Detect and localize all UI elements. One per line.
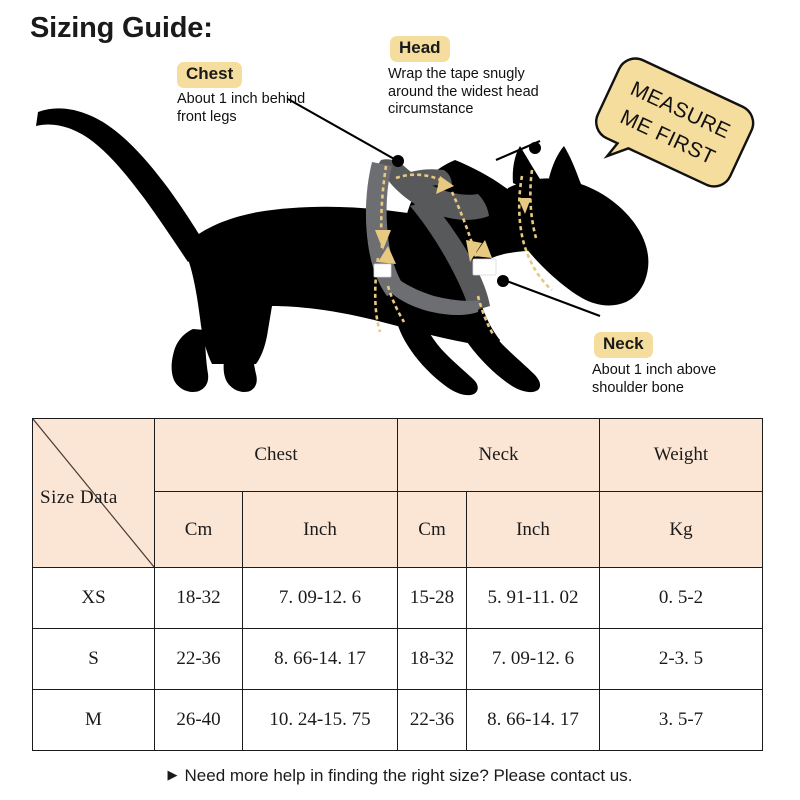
table-body: XS 18-32 7. 09-12. 6 15-28 5. 91-11. 02 …: [33, 568, 763, 751]
buckle-belly: [374, 264, 391, 277]
cell-chest-cm: 26-40: [155, 690, 243, 751]
table-row: M 26-40 10. 24-15. 75 22-36 8. 66-14. 17…: [33, 690, 763, 751]
callout-description-head: Wrap the tape snugly around the widest h…: [388, 66, 578, 119]
cell-neck-inch: 8. 66-14. 17: [467, 690, 600, 751]
table-row: XS 18-32 7. 09-12. 6 15-28 5. 91-11. 02 …: [33, 568, 763, 629]
size-data-table: Size Data Chest Neck Weight Cm Inch Cm I…: [32, 418, 763, 751]
cell-chest-cm: 18-32: [155, 568, 243, 629]
footer-help-text: Need more help in finding the right size…: [185, 766, 633, 785]
table-group-header-neck: Neck: [398, 419, 600, 492]
triangle-bullet-icon: ▶: [168, 767, 178, 783]
table-corner-label: Size Data: [40, 487, 118, 509]
cell-chest-inch: 7. 09-12. 6: [243, 568, 398, 629]
table-corner-cell: Size Data: [33, 419, 155, 568]
callout-description-chest: About 1 inch behind front legs: [177, 91, 367, 126]
table-unit-header-chest-inch: Inch: [243, 492, 398, 568]
pointer-dot-head: [529, 142, 541, 154]
table-unit-header-neck-inch: Inch: [467, 492, 600, 568]
table-group-header-weight: Weight: [600, 419, 763, 492]
callout-badge-neck: Neck: [594, 332, 653, 358]
cat-silhouette-group: [36, 108, 648, 395]
cell-weight-kg: 3. 5-7: [600, 690, 763, 751]
cell-size: S: [33, 629, 155, 690]
cell-neck-inch: 7. 09-12. 6: [467, 629, 600, 690]
cell-weight-kg: 0. 5-2: [600, 568, 763, 629]
cell-weight-kg: 2-3. 5: [600, 629, 763, 690]
cell-neck-cm: 22-36: [398, 690, 467, 751]
cell-neck-cm: 18-32: [398, 629, 467, 690]
cell-chest-cm: 22-36: [155, 629, 243, 690]
callout-description-neck: About 1 inch above shoulder bone: [592, 362, 782, 397]
cat-hind-leg-rear: [172, 329, 209, 392]
buckle-girth: [473, 259, 496, 275]
cell-size: M: [33, 690, 155, 751]
table-head: Size Data Chest Neck Weight Cm Inch Cm I…: [33, 419, 763, 568]
table-unit-header-chest-cm: Cm: [155, 492, 243, 568]
table-unit-header-neck-cm: Cm: [398, 492, 467, 568]
pointer-dot-chest: [392, 155, 404, 167]
cat-tail: [36, 108, 206, 262]
footer-help-note: ▶Need more help in finding the right siz…: [0, 766, 800, 786]
table-row: S 22-36 8. 66-14. 17 18-32 7. 09-12. 6 2…: [33, 629, 763, 690]
table-unit-header-weight-kg: Kg: [600, 492, 763, 568]
callout-badge-head: Head: [390, 36, 450, 62]
measure-me-first-speech-bubble: MEASURE ME FIRST: [598, 62, 750, 174]
cell-chest-inch: 8. 66-14. 17: [243, 629, 398, 690]
cell-chest-inch: 10. 24-15. 75: [243, 690, 398, 751]
cell-neck-cm: 15-28: [398, 568, 467, 629]
table-group-header-row: Size Data Chest Neck Weight: [33, 419, 763, 492]
cat-head: [504, 178, 648, 305]
cell-neck-inch: 5. 91-11. 02: [467, 568, 600, 629]
callout-badge-chest: Chest: [177, 62, 242, 88]
cell-size: XS: [33, 568, 155, 629]
table-group-header-chest: Chest: [155, 419, 398, 492]
pointer-dot-neck: [497, 275, 509, 287]
